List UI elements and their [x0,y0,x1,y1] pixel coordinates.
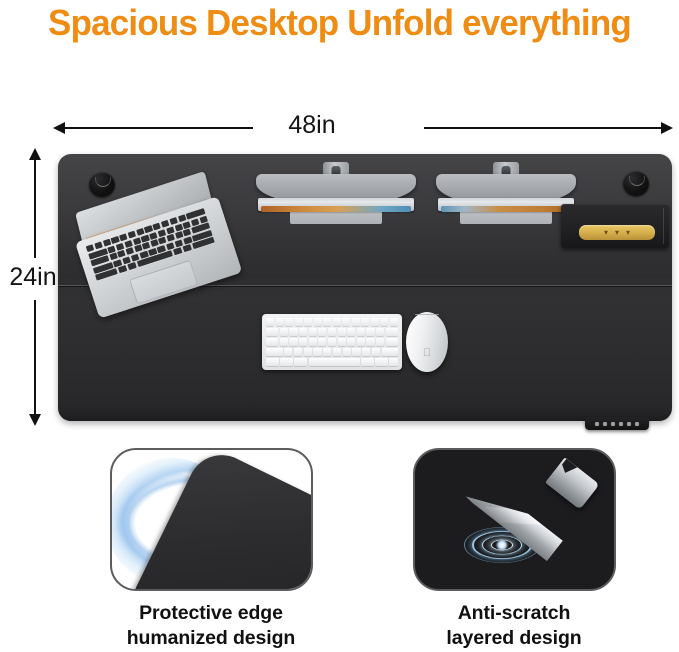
caption-line-1: Protective edge [81,601,341,626]
power-outlet-icon: ▾ [625,230,631,236]
caption-line-2: humanized design [81,626,341,651]
monitor-right-screen-glow [441,206,571,212]
power-strip-box: ▾ ▾ ▾ [561,204,669,248]
keypad-button[interactable] [627,422,631,426]
power-box-slot [663,208,664,244]
keyboard-row [266,358,398,366]
caption-protective-edge: Protective edge humanized design [81,601,341,651]
caption-anti-scratch: Anti-scratch layered design [384,601,644,651]
keypad-button[interactable] [611,422,615,426]
keypad-button[interactable] [619,422,623,426]
keyboard-row [266,338,398,346]
utility-knife-icon [463,448,593,574]
keyboard [262,314,402,370]
monitor-right [436,162,576,224]
keypad-button[interactable] [635,422,639,426]
cable-grommet-right-icon [623,171,649,196]
keypad-button[interactable] [603,422,607,426]
desktop-surface:  ▾ ▾ ▾ [58,154,672,421]
feature-panel-anti-scratch [413,448,616,591]
mouse:  [406,312,448,372]
knife-handle [545,457,599,509]
monitor-left [256,162,416,224]
monitor-left-screen-glow [261,206,411,212]
knife-handle-notch [559,459,577,477]
page-title: Spacious Desktop Unfold everything [10,0,669,46]
infographic-root: Spacious Desktop Unfold everything 48in … [0,0,679,652]
desktop-front-edge [58,410,672,421]
caption-line-1: Anti-scratch [384,601,644,626]
power-outlet-icon: ▾ [603,230,609,236]
width-dimension-label: 48in [253,109,371,141]
cable-grommet-left-icon [89,172,115,197]
caption-line-2: layered design [384,626,644,651]
keyboard-row [266,328,398,336]
arrow-head-down-icon [29,414,41,426]
knife-blade-facet [476,485,542,545]
feature-panel-protective-edge [110,448,313,591]
keypad-button[interactable] [595,422,599,426]
power-outlet-icon: ▾ [614,230,620,236]
knife-blade [465,477,563,562]
depth-dimension-label: 24in [2,261,64,293]
mouse-seam [415,314,439,315]
keyboard-row [266,348,398,356]
height-control-keypad[interactable] [585,417,649,430]
keyboard-row [266,318,398,326]
arrow-head-right-icon [661,122,673,134]
apple-logo-icon:  [423,348,432,358]
power-strip: ▾ ▾ ▾ [579,225,655,240]
